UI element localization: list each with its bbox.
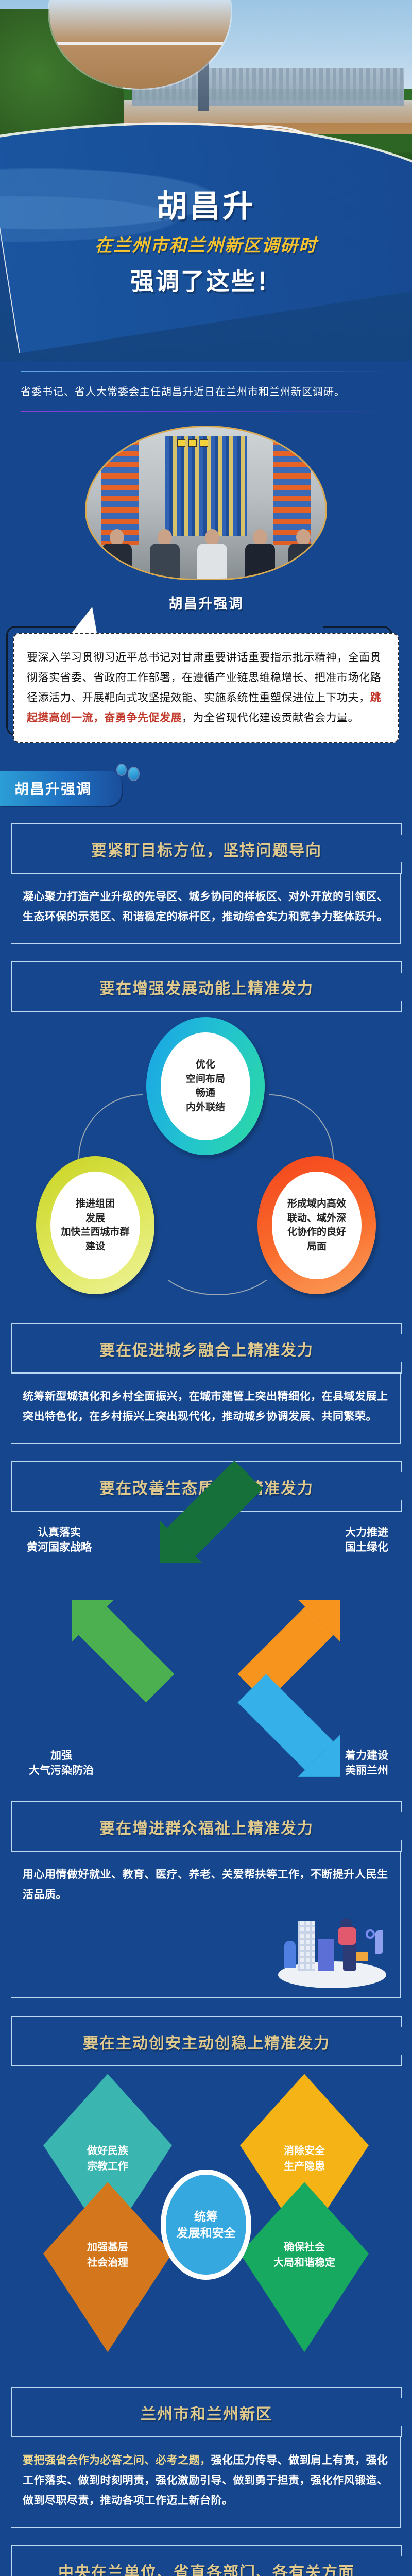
callout-title: 胡昌升强调	[0, 592, 412, 613]
section-8-heading-block: 中央在兰单位、省直各部门、各有关方面	[11, 2545, 401, 2576]
photo-person	[149, 527, 181, 579]
eco-label-top-right: 大力推进国土绿化	[345, 1525, 388, 1555]
section-7-heading: 兰州市和兰州新区	[18, 2401, 396, 2424]
hero-banner: 胡昌升 在兰州市和兰州新区调研时 强调了这些！	[0, 0, 412, 361]
lead-section: 省委书记、省人大常委会主任胡昌升近日在兰州市和兰州新区调研。	[0, 361, 412, 412]
hero-subtitle: 在兰州市和兰州新区调研时	[0, 231, 412, 257]
section-1-body: 凝心聚力打造产业升级的先导区、城乡协同的样板区、对外开放的引领区、生态环保的示范…	[23, 887, 388, 927]
diamond-bottom-left: 加强基层社会治理	[43, 2182, 172, 2352]
section-2-heading-block: 要在增强发展动能上精准发力	[11, 961, 401, 1012]
circle-right-label: 形成域内高效联动、域外深化协作的良好局面	[272, 1172, 362, 1279]
diamonds-diagram: 做好民族宗教工作 消除安全生产隐患 加强基层社会治理 确保社会大局和谐稳定 统筹…	[11, 2071, 401, 2369]
oval-photo-container	[85, 426, 327, 580]
section-6-heading-block: 要在主动创安主动创稳上精准发力	[11, 2016, 401, 2066]
section-6-heading: 要在主动创安主动创稳上精准发力	[18, 2030, 396, 2053]
infographic-page: 胡昌升 在兰州市和兰州新区调研时 强调了这些！ 省委书记、省人大常委会主任胡昌升…	[0, 0, 412, 2576]
arrow-up-left-green-icon	[58, 1585, 175, 1702]
bubble-decoration-icon	[117, 765, 139, 780]
photo-machine	[165, 436, 247, 536]
eco-label-bottom-left: 加强大气污染防治	[29, 1748, 94, 1778]
photo-person	[101, 527, 133, 579]
callout-text-before: 要深入学习贯彻习近平总书记对甘肃重要讲话重要指示批示精神，全面贯彻落实省委、省政…	[27, 651, 381, 704]
section-3-heading-block: 要在促进城乡融合上精准发力	[11, 1323, 401, 1374]
section-3-heading: 要在促进城乡融合上精准发力	[18, 1337, 396, 1360]
section-8-heading: 中央在兰单位、省直各部门、各有关方面	[18, 2560, 396, 2576]
arrow-down-right-blue-icon	[237, 1674, 354, 1791]
section-1-body-frame: 凝心聚力打造产业升级的先导区、城乡协同的样板区、对外开放的引领区、生态环保的示范…	[11, 874, 401, 944]
section-1-heading: 要紧盯目标方位，坚持问题导向	[18, 838, 396, 860]
lead-paragraph: 省委书记、省人大常委会主任胡昌升近日在兰州市和兰州新区调研。	[21, 383, 391, 401]
lead-divider-bottom	[21, 411, 391, 412]
circle-top-label: 优化空间布局畅通内外联结	[161, 1032, 251, 1140]
section-5-body: 用心用情做好就业、教育、医疗、养老、关爱帮扶等工作，不断提升人民生活品质。	[23, 1865, 388, 1905]
hero-emphasis: 强调了这些！	[0, 263, 412, 297]
circle-right: 形成域内高效联动、域外深化协作的良好局面	[257, 1156, 376, 1294]
circle-top: 优化空间布局畅通内外联结	[146, 1017, 265, 1155]
eco-arrows-diagram: 认真落实黄河国家战略 大力推进国土绿化 加强大气污染防治 着力建设美丽兰州	[11, 1516, 401, 1784]
survey-photo	[85, 426, 327, 580]
lead-divider-top	[21, 371, 391, 372]
diamond-bottom-right: 确保社会大局和谐稳定	[240, 2182, 369, 2352]
section-badge-row: 胡昌升强调	[0, 771, 412, 806]
page-title: 胡昌升	[0, 181, 412, 226]
photo-person	[244, 527, 276, 579]
section-5-body-frame: 用心用情做好就业、教育、医疗、养老、关爱帮扶等工作，不断提升人民生活品质。	[11, 1852, 401, 1999]
photo-warning-signs	[177, 439, 208, 447]
section-3-body: 统筹新型城镇化和乡村全面振兴，在城市建管上突出精细化，在县域发展上突出特色化，在…	[23, 1387, 388, 1427]
section-7-body-frame: 要把强省会作为必答之问、必考之题，强化压力传导、做到肩上有责，强化工作落实、做到…	[11, 2437, 401, 2528]
diamond-center-label: 统筹发展和安全	[161, 2170, 251, 2280]
section-7-body-highlight: 要把强省会作为必答之问、必考之题，	[23, 2454, 211, 2466]
section-5-heading-block: 要在增进群众福祉上精准发力	[11, 1801, 401, 1852]
section-badge: 胡昌升强调	[0, 771, 122, 806]
section-2-heading: 要在增强发展动能上精准发力	[18, 976, 396, 998]
section-7-heading-block: 兰州市和兰州新区	[11, 2387, 401, 2437]
eco-label-top-left: 认真落实黄河国家战略	[27, 1525, 92, 1555]
section-1-heading-block: 要紧盯目标方位，坚持问题导向	[11, 823, 401, 874]
photo-person	[287, 527, 319, 579]
section-5-heading: 要在增进群众福祉上精准发力	[18, 1816, 396, 1838]
photo-person	[196, 527, 228, 579]
three-circles-diagram: 优化空间布局畅通内外联结 推进组团发展加快兰西城市群建设 形成域内高效联动、域外…	[11, 1017, 401, 1306]
circle-left-label: 推进组团发展加快兰西城市群建设	[50, 1172, 141, 1279]
callout-text-box: 要深入学习贯彻习近平总书记对甘肃重要讲话重要指示批示精神，全面贯彻落实省委、省政…	[13, 633, 399, 743]
circle-left: 推进组团发展加快兰西城市群建设	[36, 1156, 154, 1294]
callout-text-after: ，为全省现代化建设贡献省会力量。	[182, 711, 359, 724]
illustration-person-city	[278, 1911, 386, 1988]
section-3-body-frame: 统筹新型城镇化和乡村全面振兴，在城市建管上突出精细化，在县域发展上突出特色化，在…	[11, 1374, 401, 1444]
hero-title-group: 胡昌升 在兰州市和兰州新区调研时 强调了这些！	[0, 181, 412, 297]
photo-people-row	[87, 527, 325, 579]
callout-container: 要深入学习贯彻习近平总书记对甘肃重要讲话重要指示批示精神，全面贯彻落实省委、省政…	[13, 633, 399, 743]
